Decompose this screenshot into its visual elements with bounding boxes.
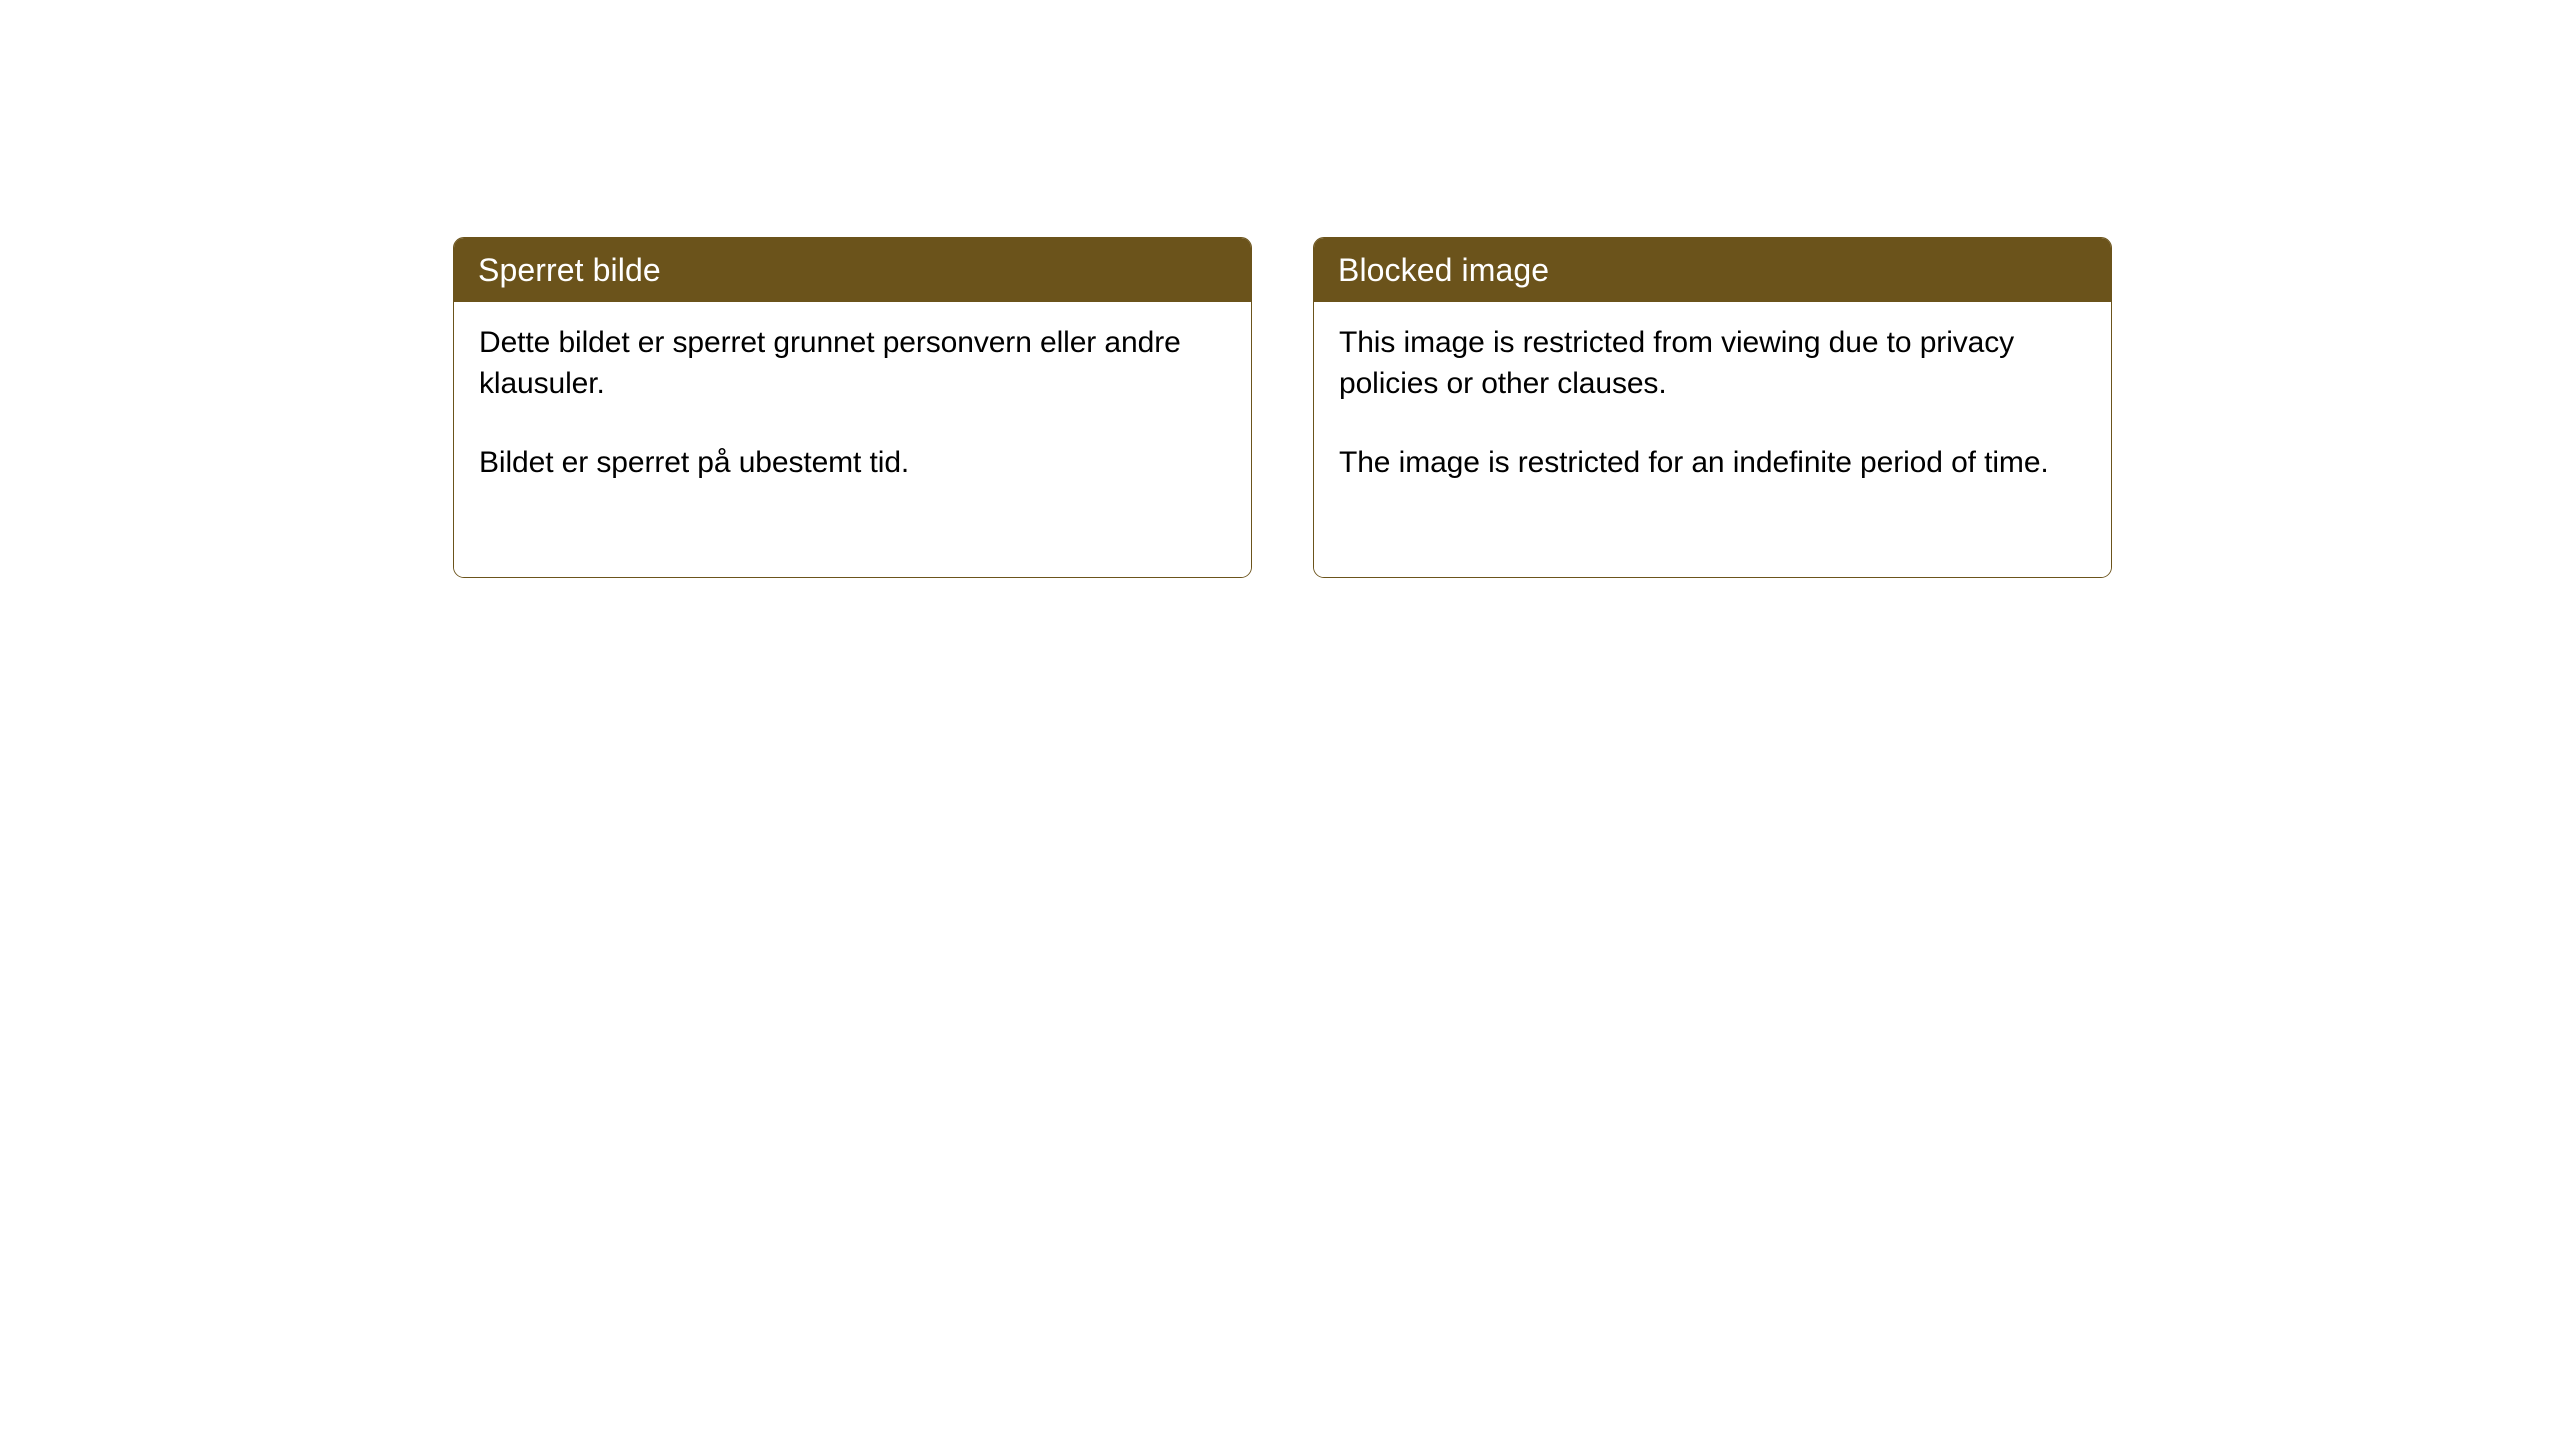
notice-card-paragraph-secondary: Bildet er sperret på ubestemt tid. — [479, 442, 1227, 483]
notice-card-header: Blocked image — [1314, 238, 2111, 302]
notice-card-english: Blocked image This image is restricted f… — [1313, 237, 2112, 578]
notice-card-paragraph-primary: Dette bildet er sperret grunnet personve… — [479, 322, 1227, 404]
page-root: Sperret bilde Dette bildet er sperret gr… — [0, 0, 2560, 1440]
notice-card-paragraph-primary: This image is restricted from viewing du… — [1339, 322, 2087, 404]
notice-card-paragraph-secondary: The image is restricted for an indefinit… — [1339, 442, 2087, 483]
notice-card-title: Sperret bilde — [478, 252, 661, 288]
notice-card-header: Sperret bilde — [454, 238, 1251, 302]
notice-card-body: This image is restricted from viewing du… — [1314, 302, 2111, 577]
notice-card-body: Dette bildet er sperret grunnet personve… — [454, 302, 1251, 577]
notice-card-title: Blocked image — [1338, 252, 1549, 288]
notice-card-group: Sperret bilde Dette bildet er sperret gr… — [453, 237, 2112, 578]
notice-card-norwegian: Sperret bilde Dette bildet er sperret gr… — [453, 237, 1252, 578]
